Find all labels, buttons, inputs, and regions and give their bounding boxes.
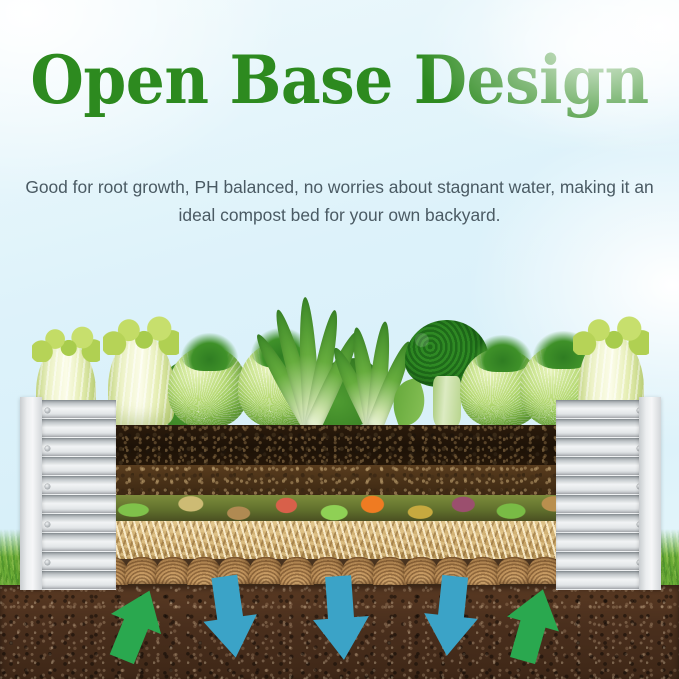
page-subtitle: Good for root growth, PH balanced, no wo…: [24, 173, 655, 229]
panel-slat: [40, 419, 116, 437]
arrow-down-center: [306, 574, 376, 662]
layer-subsoil: [100, 465, 578, 495]
log: [373, 557, 407, 585]
plant-napa-cabbage-2: [108, 336, 174, 428]
panel-slat: [40, 476, 116, 494]
corner-post-right: [639, 397, 661, 590]
panel-slat: [556, 419, 647, 437]
panel-screw: [45, 446, 50, 451]
log: [497, 557, 531, 584]
panel-slats-left: [40, 400, 116, 590]
corner-post-left: [20, 397, 42, 590]
panel-slat: [556, 457, 647, 475]
panel-slat: [40, 438, 116, 456]
panel-screw: [45, 484, 50, 489]
broccoli-stem: [433, 376, 462, 428]
arrow-up-left: [101, 584, 171, 664]
panel-screw: [45, 560, 50, 565]
planter-panel-left: [14, 400, 110, 590]
panel-slat: [40, 533, 116, 551]
arrow-down-left: [195, 574, 265, 660]
panel-slat: [556, 533, 647, 551]
arrow-down-right: [416, 574, 486, 658]
panel-slat: [556, 571, 647, 589]
panel-slat: [40, 514, 116, 532]
panel-slat: [40, 457, 116, 475]
log: [125, 557, 159, 584]
layer-straw: [100, 521, 578, 559]
panel-slat: [556, 495, 647, 513]
plant-cabbage-1: [168, 346, 248, 428]
marketing-image: Open Base Design Good for root growth, P…: [0, 0, 679, 679]
page-title: Open Base Design: [24, 44, 655, 116]
layer-topsoil: [100, 425, 578, 465]
panel-slat: [556, 552, 647, 570]
panel-slat: [556, 438, 647, 456]
panel-screw: [45, 408, 50, 413]
panel-slat: [556, 476, 647, 494]
layer-scraps: [100, 495, 578, 521]
panel-slat: [556, 400, 647, 418]
planter-panel-right: [562, 400, 665, 590]
panel-slats-right: [556, 400, 647, 590]
bed-cross-section: [100, 425, 578, 585]
panel-slat: [556, 514, 647, 532]
panel-screw: [45, 522, 50, 527]
arrow-up-right: [498, 584, 568, 664]
panel-slat: [40, 495, 116, 513]
panel-slat: [40, 400, 116, 418]
panel-slat: [40, 552, 116, 570]
log: [156, 557, 190, 584]
